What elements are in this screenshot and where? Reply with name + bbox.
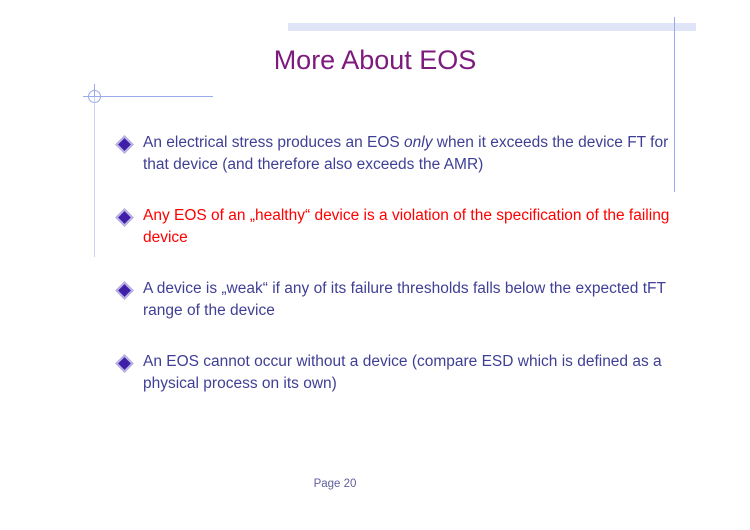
bullet-text-3: A device is „weak“ if any of its failure… xyxy=(143,278,674,322)
diamond-bullet-icon xyxy=(115,208,133,226)
bullet-1-text-before: An electrical stress produces an EOS xyxy=(143,134,404,151)
header-vertical-rule xyxy=(674,17,675,192)
bullet-1-emphasis: only xyxy=(404,134,432,151)
decoration-horizontal-line xyxy=(83,96,213,97)
list-item: An EOS cannot occur without a device (co… xyxy=(114,351,674,395)
bullet-marker xyxy=(114,205,143,224)
list-item: Any EOS of an „healthy“ device is a viol… xyxy=(114,205,674,249)
diamond-bullet-icon xyxy=(115,281,133,299)
bullet-text-4: An EOS cannot occur without a device (co… xyxy=(143,351,674,395)
header-accent-band xyxy=(288,23,696,31)
bullet-marker xyxy=(114,132,143,151)
diamond-bullet-icon xyxy=(115,135,133,153)
list-item: A device is „weak“ if any of its failure… xyxy=(114,278,674,322)
bullet-marker xyxy=(114,351,143,370)
body-left-vertical-rule xyxy=(94,97,95,257)
slide-canvas: More About EOS An electrical stress prod… xyxy=(0,0,750,530)
bullet-marker xyxy=(114,278,143,297)
diamond-bullet-icon xyxy=(115,354,133,372)
page-number: Page 20 xyxy=(0,478,750,490)
bullet-list: An electrical stress produces an EOS onl… xyxy=(114,132,674,424)
crosshair-circle-decoration xyxy=(80,82,215,128)
bullet-text-2: Any EOS of an „healthy“ device is a viol… xyxy=(143,205,674,249)
list-item: An electrical stress produces an EOS onl… xyxy=(114,132,674,176)
slide-title: More About EOS xyxy=(0,45,750,76)
bullet-text-1: An electrical stress produces an EOS onl… xyxy=(143,132,674,176)
